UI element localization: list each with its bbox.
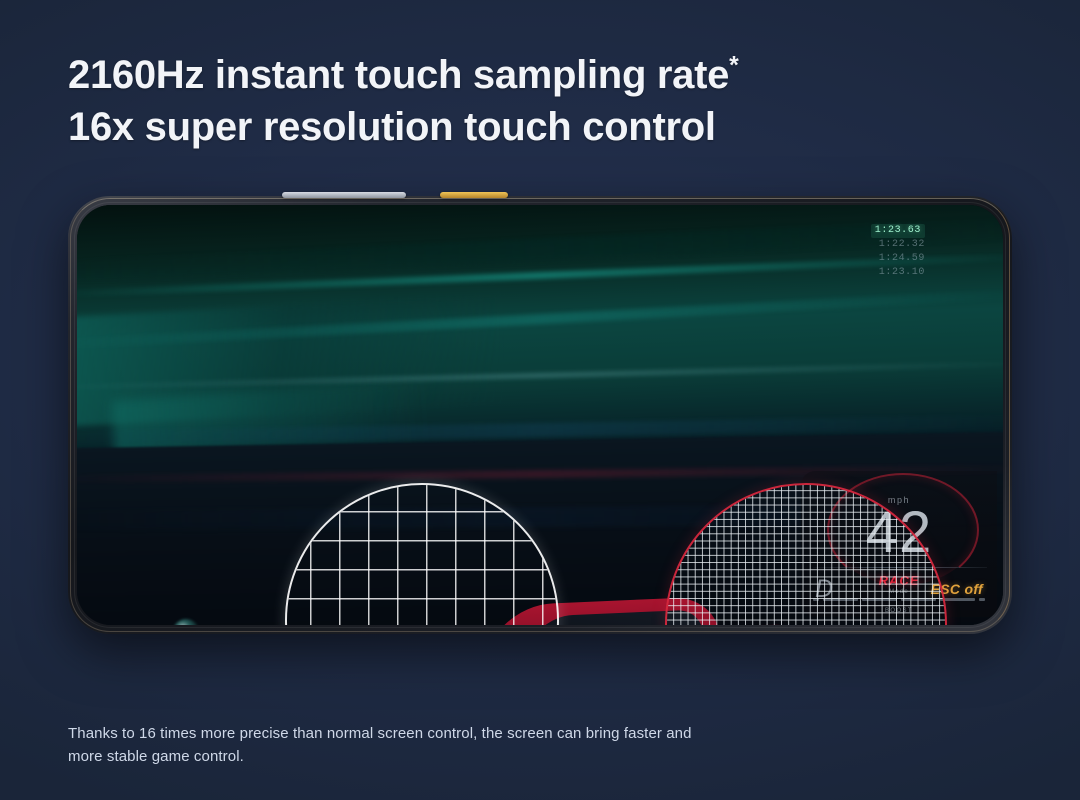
headline-line-1: 2160Hz instant touch sampling rate* — [68, 49, 968, 101]
lap-time-list: 1:23.63 1:22.32 1:24.59 1:23.10 — [871, 219, 925, 280]
lap-time-row: 1:23.63 — [871, 219, 925, 238]
touch-grid-normal — [285, 483, 559, 625]
lap-time-item: 1:24.59 — [871, 252, 925, 266]
touch-grid-super-resolution — [665, 483, 947, 625]
phone-device: 1:23.63 1:22.32 1:24.59 1:23.10 mph 42 D… — [68, 196, 1012, 634]
footnote-asterisk: * — [729, 52, 738, 79]
headline-line-2: 16x super resolution touch control — [68, 101, 968, 153]
fine-grid-overlay — [667, 485, 945, 625]
coarse-grid-overlay — [287, 485, 557, 625]
caption-text: Thanks to 16 times more precise than nor… — [68, 722, 808, 769]
page-root: 2160Hz instant touch sampling rate* 16x … — [0, 0, 1080, 800]
boost-segment — [979, 598, 985, 601]
boost-segment — [940, 598, 975, 601]
lap-time-item: 1:22.32 — [871, 238, 925, 252]
phone-screen[interactable]: 1:23.63 1:22.32 1:24.59 1:23.10 mph 42 D… — [77, 205, 1003, 625]
caption-line-1: Thanks to 16 times more precise than nor… — [68, 722, 808, 745]
lap-time-item: 1:23.10 — [871, 266, 925, 280]
page-title: 2160Hz instant touch sampling rate* 16x … — [68, 49, 968, 153]
power-button[interactable] — [440, 192, 508, 198]
caption-line-2: more stable game control. — [68, 745, 808, 768]
volume-rocker-button[interactable] — [282, 192, 406, 198]
lap-time-best: 1:23.63 — [871, 224, 925, 238]
